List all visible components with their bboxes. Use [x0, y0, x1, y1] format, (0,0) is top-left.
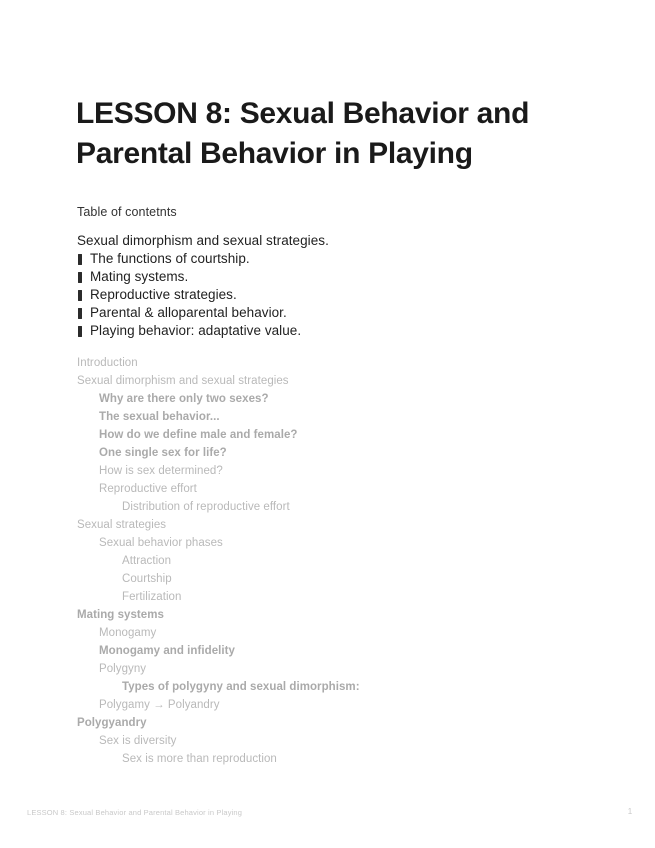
- footer-page-number: 1: [624, 807, 636, 816]
- toc-entry[interactable]: Why are there only two sexes?: [77, 390, 597, 408]
- bullet-bar-icon: [78, 290, 82, 301]
- list-item: Parental & alloparental behavior.: [77, 304, 577, 322]
- toc-entry[interactable]: Types of polygyny and sexual dimorphism:: [77, 678, 597, 696]
- bullet-bar-icon: [78, 272, 82, 283]
- toc-entry[interactable]: Polygyny: [77, 660, 597, 678]
- intro-bullet-list: The functions of courtship.Mating system…: [77, 250, 577, 340]
- toc-entry[interactable]: Sexual strategies: [77, 516, 597, 534]
- footer-title: LESSON 8: Sexual Behavior and Parental B…: [27, 808, 242, 817]
- table-of-contents-outline: IntroductionSexual dimorphism and sexual…: [77, 354, 597, 768]
- list-item-label: Playing behavior: adaptative value.: [90, 323, 301, 338]
- toc-entry[interactable]: Courtship: [77, 570, 597, 588]
- toc-entry[interactable]: One single sex for life?: [77, 444, 597, 462]
- list-item-label: Parental & alloparental behavior.: [90, 305, 287, 320]
- toc-entry[interactable]: Polygyandry: [77, 714, 597, 732]
- list-item-label: Reproductive strategies.: [90, 287, 237, 302]
- toc-entry[interactable]: Monogamy: [77, 624, 597, 642]
- toc-entry[interactable]: How is sex determined?: [77, 462, 597, 480]
- bullet-bar-icon: [78, 254, 82, 265]
- intro-lead-line: Sexual dimorphism and sexual strategies.: [77, 232, 577, 250]
- toc-entry[interactable]: Sexual behavior phases: [77, 534, 597, 552]
- toc-entry[interactable]: Monogamy and infidelity: [77, 642, 597, 660]
- toc-entry[interactable]: Mating systems: [77, 606, 597, 624]
- bullet-bar-icon: [78, 308, 82, 319]
- page-title: LESSON 8: Sexual Behavior and Parental B…: [76, 94, 596, 173]
- toc-entry[interactable]: Reproductive effort: [77, 480, 597, 498]
- toc-entry[interactable]: Introduction: [77, 354, 597, 372]
- list-item: Mating systems.: [77, 268, 577, 286]
- list-item: Reproductive strategies.: [77, 286, 577, 304]
- list-item-label: The functions of courtship.: [90, 251, 250, 266]
- toc-entry[interactable]: Sexual dimorphism and sexual strategies: [77, 372, 597, 390]
- document-page: LESSON 8: Sexual Behavior and Parental B…: [0, 0, 655, 848]
- toc-entry[interactable]: The sexual behavior...: [77, 408, 597, 426]
- toc-entry[interactable]: Distribution of reproductive effort: [77, 498, 597, 516]
- toc-entry[interactable]: How do we define male and female?: [77, 426, 597, 444]
- toc-entry[interactable]: Sex is diversity: [77, 732, 597, 750]
- toc-entry[interactable]: Fertilization: [77, 588, 597, 606]
- list-item: Playing behavior: adaptative value.: [77, 322, 577, 340]
- list-item: The functions of courtship.: [77, 250, 577, 268]
- table-of-contents-heading: Table of contetnts: [77, 205, 177, 219]
- toc-entry[interactable]: Sex is more than reproduction: [77, 750, 597, 768]
- list-item-label: Mating systems.: [90, 269, 188, 284]
- toc-entry[interactable]: Attraction: [77, 552, 597, 570]
- toc-entry[interactable]: Polygamy → Polyandry: [77, 696, 597, 714]
- bullet-bar-icon: [78, 326, 82, 337]
- intro-outline-block: Sexual dimorphism and sexual strategies.…: [77, 232, 577, 340]
